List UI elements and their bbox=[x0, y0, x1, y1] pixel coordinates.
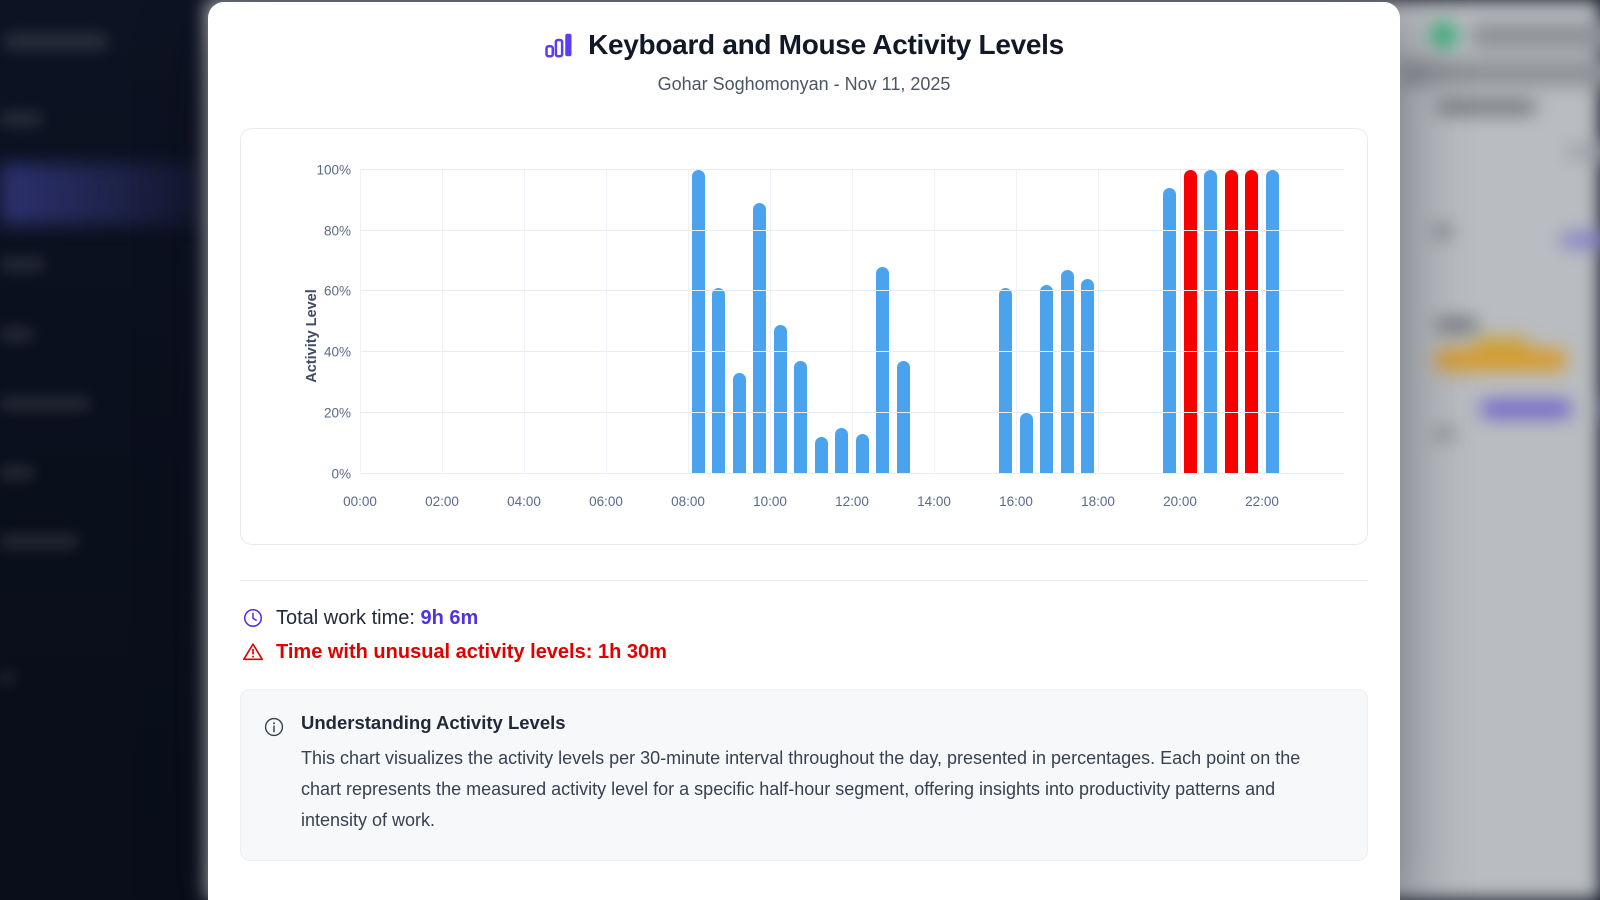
background-sidebar-item bbox=[0, 397, 90, 410]
grid-line-vertical bbox=[688, 170, 689, 474]
background-highlight-bar bbox=[1436, 349, 1566, 371]
chart-bar[interactable] bbox=[712, 288, 725, 473]
chart-bar[interactable] bbox=[856, 434, 869, 474]
grid-line-vertical bbox=[1180, 170, 1181, 474]
chart-plot-area: 0%20%40%60%80%100%00:0002:0004:0006:0008… bbox=[360, 170, 1344, 474]
total-work-time-row: Total work time: 9h 6m bbox=[242, 607, 1366, 630]
x-axis-tick-label: 22:00 bbox=[1245, 494, 1279, 509]
background-accent-line bbox=[1561, 233, 1600, 247]
total-work-time-text: Total work time: 9h 6m bbox=[276, 607, 478, 630]
grid-line-vertical bbox=[360, 170, 361, 474]
info-box: Understanding Activity Levels This chart… bbox=[240, 689, 1368, 861]
background-text-line bbox=[1434, 428, 1456, 440]
x-axis-tick-label: 00:00 bbox=[343, 494, 377, 509]
chart-bar[interactable] bbox=[999, 288, 1012, 473]
chart-bar[interactable] bbox=[876, 267, 889, 474]
y-axis-tick-label: 0% bbox=[331, 466, 351, 481]
chart-bar[interactable] bbox=[815, 437, 828, 473]
chart-bar[interactable] bbox=[1040, 285, 1053, 473]
y-axis-label: Activity Level bbox=[304, 290, 320, 384]
grid-line-vertical bbox=[524, 170, 525, 474]
x-axis-tick-label: 04:00 bbox=[507, 494, 541, 509]
modal-subtitle: Gohar Soghomonyan - Nov 11, 2025 bbox=[240, 74, 1368, 95]
background-sidebar bbox=[0, 0, 206, 900]
x-axis-tick-label: 14:00 bbox=[917, 494, 951, 509]
x-axis-tick-label: 02:00 bbox=[425, 494, 459, 509]
summary-section: Total work time: 9h 6m Time with unusual… bbox=[240, 581, 1368, 664]
grid-line-vertical bbox=[606, 170, 607, 474]
background-sidebar-item bbox=[0, 258, 44, 271]
y-axis-tick-label: 60% bbox=[324, 284, 351, 299]
background-accent-pill bbox=[1481, 400, 1571, 418]
grid-line-vertical bbox=[852, 170, 853, 474]
x-axis-tick-label: 16:00 bbox=[999, 494, 1033, 509]
clock-icon bbox=[242, 607, 264, 629]
background-sidebar-logo bbox=[4, 33, 108, 50]
background-text-line bbox=[1436, 100, 1536, 114]
y-axis-tick-label: 20% bbox=[324, 406, 351, 421]
x-axis-tick-label: 20:00 bbox=[1163, 494, 1197, 509]
background-sidebar-item bbox=[0, 672, 14, 684]
grid-line-vertical bbox=[934, 170, 935, 474]
background-status-dot bbox=[1431, 22, 1457, 48]
y-axis-tick-label: 40% bbox=[324, 345, 351, 360]
x-axis-tick-label: 18:00 bbox=[1081, 494, 1115, 509]
x-axis-tick-label: 06:00 bbox=[589, 494, 623, 509]
warning-triangle-icon bbox=[242, 641, 264, 663]
grid-line-vertical bbox=[1016, 170, 1017, 474]
info-box-title: Understanding Activity Levels bbox=[301, 712, 1341, 734]
background-header-bar bbox=[1401, 60, 1600, 86]
info-box-body: This chart visualizes the activity level… bbox=[301, 743, 1341, 836]
background-highlight-bar bbox=[1474, 337, 1529, 351]
grid-line-vertical bbox=[1098, 170, 1099, 474]
background-sidebar-active-item bbox=[0, 163, 206, 225]
total-work-time-value: 9h 6m bbox=[420, 607, 478, 629]
x-axis-tick-label: 08:00 bbox=[671, 494, 705, 509]
chart-bar[interactable] bbox=[794, 361, 807, 473]
y-axis-tick-label: 100% bbox=[316, 162, 351, 177]
page-title: Keyboard and Mouse Activity Levels bbox=[588, 30, 1064, 61]
chart-bar[interactable] bbox=[835, 428, 848, 474]
grid-line-vertical bbox=[442, 170, 443, 474]
chart-bar[interactable] bbox=[1020, 413, 1033, 474]
chart-bar[interactable] bbox=[1081, 279, 1094, 474]
chart-bar-unusual[interactable] bbox=[1184, 170, 1197, 474]
chart-bar[interactable] bbox=[1204, 170, 1217, 474]
chart-bar[interactable] bbox=[1266, 170, 1279, 474]
background-text-line bbox=[1434, 225, 1452, 238]
chart-bar-unusual[interactable] bbox=[1225, 170, 1238, 474]
background-sidebar-item bbox=[0, 535, 78, 548]
background-text-line bbox=[1566, 145, 1600, 159]
chart-bar[interactable] bbox=[774, 325, 787, 474]
chart-inner: Activity Level 0%20%40%60%80%100%00:0002… bbox=[241, 129, 1367, 544]
background-sidebar-item bbox=[0, 112, 42, 126]
chart-bar[interactable] bbox=[733, 373, 746, 473]
chart-bar[interactable] bbox=[692, 170, 705, 474]
modal-title-row: Keyboard and Mouse Activity Levels bbox=[240, 30, 1368, 61]
chart-card: Activity Level 0%20%40%60%80%100%00:0002… bbox=[240, 128, 1368, 545]
bar-chart-icon bbox=[544, 30, 574, 60]
x-axis-tick-label: 10:00 bbox=[753, 494, 787, 509]
x-axis-tick-label: 12:00 bbox=[835, 494, 869, 509]
unusual-activity-row: Time with unusual activity levels: 1h 30… bbox=[242, 641, 1366, 664]
chart-bar[interactable] bbox=[753, 203, 766, 474]
chart-bar-unusual[interactable] bbox=[1245, 170, 1258, 474]
background-text-line bbox=[1436, 318, 1478, 332]
background-sidebar-item bbox=[0, 328, 33, 341]
chart-bar[interactable] bbox=[897, 361, 910, 473]
grid-line-vertical bbox=[770, 170, 771, 474]
y-axis-tick-label: 80% bbox=[324, 223, 351, 238]
chart-bar[interactable] bbox=[1061, 270, 1074, 474]
chart-bar[interactable] bbox=[1163, 188, 1176, 474]
grid-line-vertical bbox=[1262, 170, 1263, 474]
background-header-pill bbox=[1471, 23, 1600, 49]
info-box-content: Understanding Activity Levels This chart… bbox=[301, 712, 1341, 836]
background-sidebar-item bbox=[0, 466, 34, 479]
activity-levels-modal: Keyboard and Mouse Activity Levels Gohar… bbox=[208, 2, 1400, 900]
info-circle-icon bbox=[263, 716, 285, 738]
unusual-activity-text: Time with unusual activity levels: 1h 30… bbox=[276, 641, 667, 664]
total-work-time-label: Total work time: bbox=[276, 607, 420, 629]
modal-header: Keyboard and Mouse Activity Levels Gohar… bbox=[240, 2, 1368, 95]
